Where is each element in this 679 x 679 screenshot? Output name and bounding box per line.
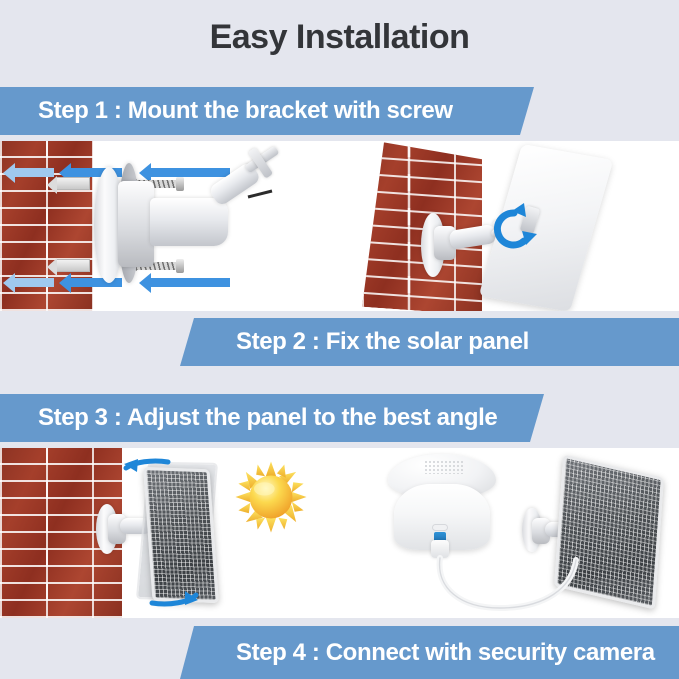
direction-arrow	[150, 168, 230, 177]
step-3-4-image-row	[0, 448, 679, 618]
page-title: Easy Installation	[0, 18, 679, 57]
usb-plug-body	[431, 540, 449, 558]
direction-arrow	[150, 278, 230, 287]
solar-panel	[143, 467, 219, 603]
step-4-illustration	[340, 448, 679, 618]
camera-power-port	[432, 524, 448, 531]
step-3-label: Step 3 : Adjust the panel to the best an…	[38, 404, 497, 432]
direction-arrow	[14, 278, 54, 287]
step-1-label: Step 1 : Mount the bracket with screw	[38, 97, 453, 125]
mounting-bracket-collar	[118, 181, 154, 267]
mounting-bracket-arm	[150, 198, 228, 246]
camera-speaker-grille	[424, 460, 464, 474]
brick-wall	[362, 141, 482, 311]
step-3-banner: Step 3 : Adjust the panel to the best an…	[0, 394, 544, 442]
step-3-illustration	[0, 448, 340, 618]
step-1-illustration	[0, 141, 340, 311]
step-2-illustration	[340, 141, 679, 311]
step-2-banner: Step 2 : Fix the solar panel	[180, 318, 679, 366]
sun-icon	[234, 460, 308, 534]
step-1-banner: Step 1 : Mount the bracket with screw	[0, 87, 534, 135]
solar-panel-back	[479, 144, 614, 311]
step-4-label: Step 4 : Connect with security camera	[236, 639, 655, 667]
wall-anchor	[56, 259, 90, 272]
step-1-2-image-row	[0, 141, 679, 311]
step-2-label: Step 2 : Fix the solar panel	[236, 328, 529, 356]
step-4-banner: Step 4 : Connect with security camera	[180, 626, 679, 679]
installation-guide-page: Easy Installation Step 1 : Mount the bra…	[0, 0, 679, 679]
solar-panel	[554, 455, 664, 610]
wall-anchor	[56, 177, 90, 190]
